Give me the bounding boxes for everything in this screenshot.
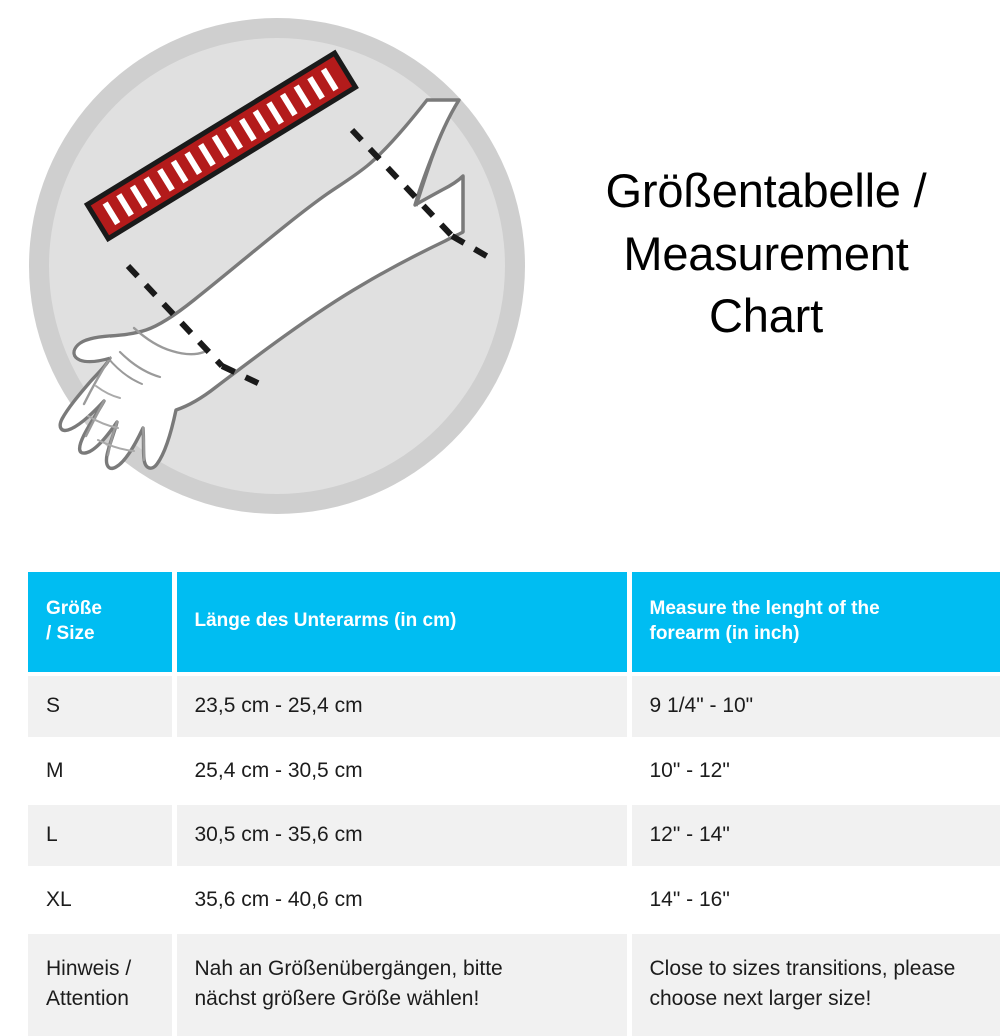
column-header-length-cm: Länge des Unterarms (in cm) — [174, 572, 629, 674]
cell-note-german-line-1: Nah an Größenübergängen, bitte — [195, 954, 609, 984]
cell-size: XL — [28, 868, 174, 933]
column-header-length-inch: Measure the lenght of the forearm (in in… — [629, 572, 1000, 674]
cell-size: L — [28, 803, 174, 868]
finger-line-4 — [143, 428, 144, 460]
table-row: L 30,5 cm - 35,6 cm 12" - 14" — [28, 803, 1000, 868]
cell-size: S — [28, 674, 174, 739]
cell-length-inch: 14" - 16" — [629, 868, 1000, 933]
cell-length-inch: 12" - 14" — [629, 803, 1000, 868]
cell-length-inch: 10" - 12" — [629, 739, 1000, 804]
column-header-size-line-2: / Size — [46, 621, 154, 646]
cell-note-english-line-2: choose next larger size! — [650, 984, 983, 1014]
cell-note-label: Hinweis / Attention — [28, 932, 174, 1036]
cell-note-english: Close to sizes transitions, please choos… — [629, 932, 1000, 1036]
cell-length-cm: 25,4 cm - 30,5 cm — [174, 739, 629, 804]
cell-size: M — [28, 739, 174, 804]
forearm-measurement-illustration — [22, 8, 532, 518]
column-header-length-inch-line-2: forearm (in inch) — [650, 621, 983, 646]
cell-length-inch: 9 1/4" - 10" — [629, 674, 1000, 739]
illustration-and-title-area: Größentabelle / Measurement Chart — [0, 0, 1000, 560]
page-title-line-3: Chart — [540, 285, 992, 348]
cell-length-cm: 23,5 cm - 25,4 cm — [174, 674, 629, 739]
size-chart-table: Größe / Size Länge des Unterarms (in cm)… — [28, 572, 1000, 1036]
table-row: M 25,4 cm - 30,5 cm 10" - 12" — [28, 739, 1000, 804]
table-row: S 23,5 cm - 25,4 cm 9 1/4" - 10" — [28, 674, 1000, 739]
page-title-line-2: Measurement — [540, 223, 992, 286]
page-title: Größentabelle / Measurement Chart — [540, 160, 992, 348]
cell-length-cm: 30,5 cm - 35,6 cm — [174, 803, 629, 868]
cell-note-label-line-2: Attention — [46, 984, 154, 1014]
column-header-length-inch-line-1: Measure the lenght of the — [650, 596, 983, 621]
table-note-row: Hinweis / Attention Nah an Größenübergän… — [28, 932, 1000, 1036]
table-header-row: Größe / Size Länge des Unterarms (in cm)… — [28, 572, 1000, 674]
column-header-length-cm-line-1: Länge des Unterarms (in cm) — [195, 608, 609, 633]
cell-note-german: Nah an Größenübergängen, bitte nächst gr… — [174, 932, 629, 1036]
cell-note-label-line-1: Hinweis / — [46, 954, 154, 984]
cell-note-german-line-2: nächst größere Größe wählen! — [195, 984, 609, 1014]
page-title-line-1: Größentabelle / — [540, 160, 992, 223]
cell-note-english-line-1: Close to sizes transitions, please — [650, 954, 983, 984]
column-header-size-line-1: Größe — [46, 596, 154, 621]
column-header-size: Größe / Size — [28, 572, 174, 674]
cell-length-cm: 35,6 cm - 40,6 cm — [174, 868, 629, 933]
table-row: XL 35,6 cm - 40,6 cm 14" - 16" — [28, 868, 1000, 933]
